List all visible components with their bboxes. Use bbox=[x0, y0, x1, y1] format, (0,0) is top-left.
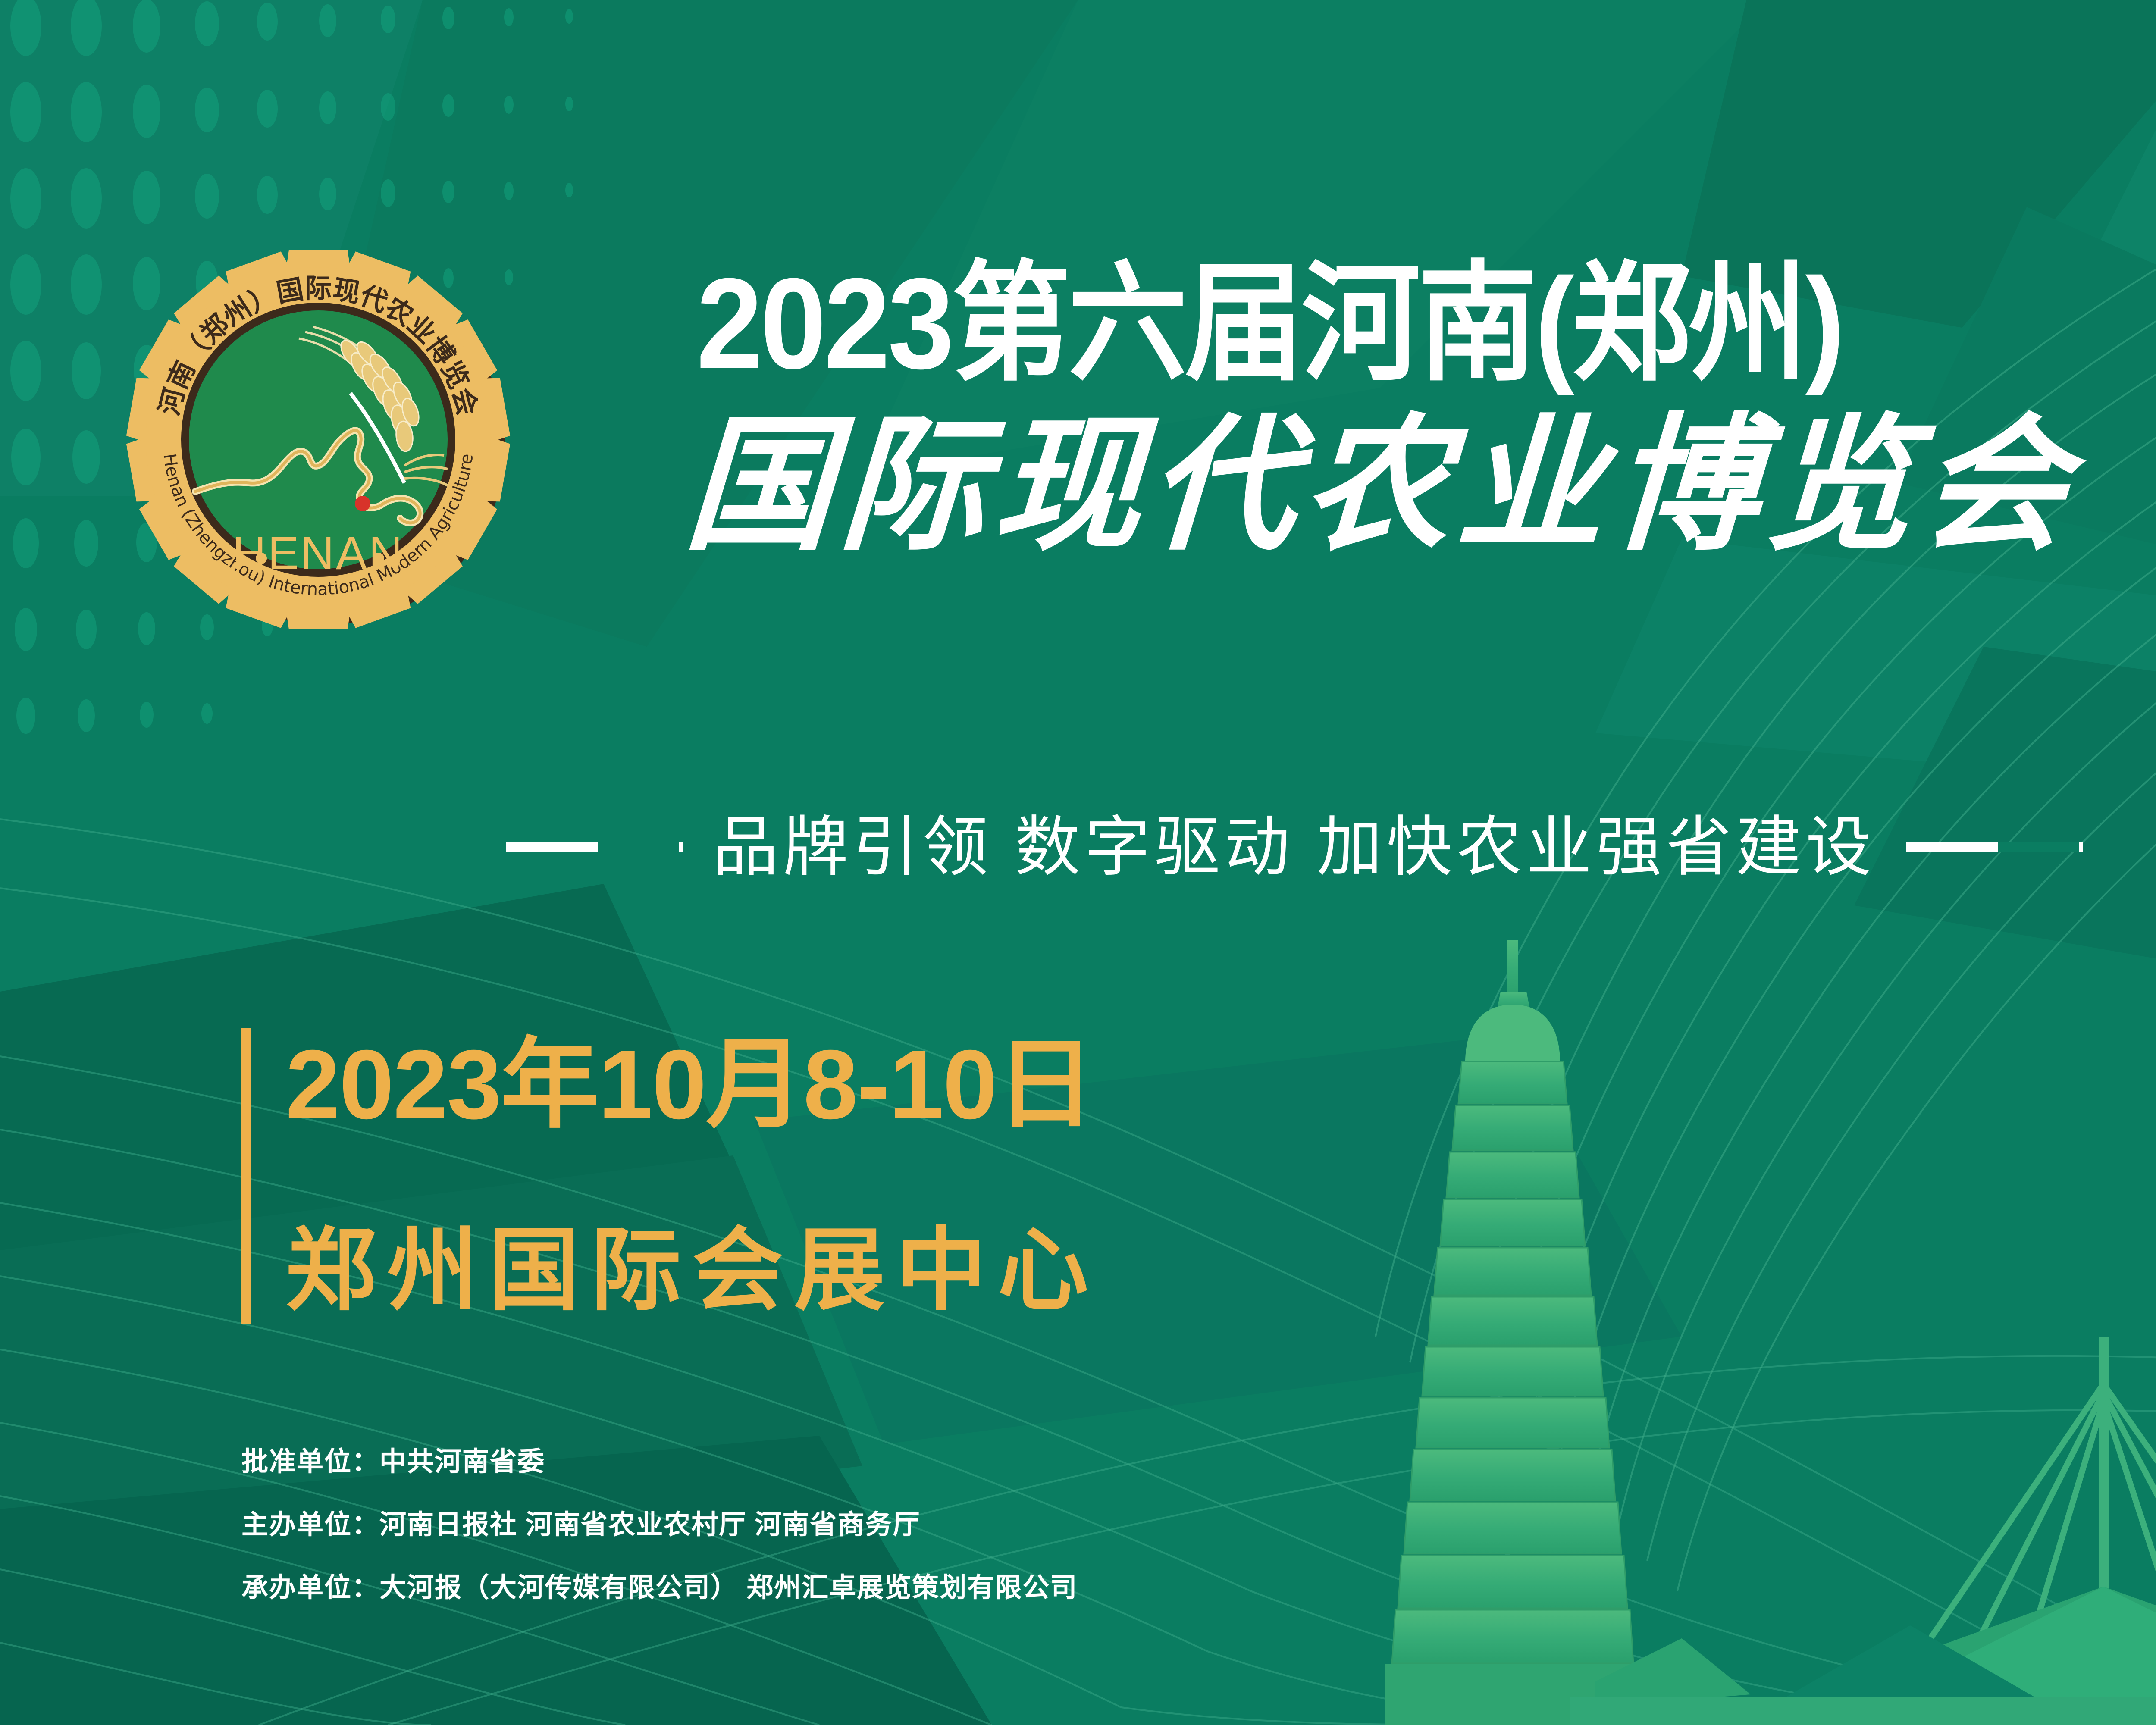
organizer-host: 主办单位：河南日报社 河南省农业农村厅 河南省商务厅 bbox=[241, 1509, 1078, 1540]
logo-center-dot-right bbox=[373, 553, 384, 564]
slogan-row: 品牌引领 数字驱动 加快农业强省建设 bbox=[0, 811, 2156, 884]
organizer-operator: 承办单位：大河报（大河传媒有限公司） 郑州汇卓展览策划有限公司 bbox=[241, 1572, 1078, 1603]
organizer-approver: 批准单位：中共河南省委 bbox=[241, 1446, 1078, 1478]
expo-poster: 河南（郑州）国际现代农业博览会 Henan (Zhengzhou) Intern… bbox=[0, 0, 2156, 1725]
date-venue-block: 2023年10月8-10日 郑州国际会展中心 bbox=[241, 1028, 1100, 1324]
expo-logo: 河南（郑州）国际现代农业博览会 Henan (Zhengzhou) Intern… bbox=[103, 224, 534, 655]
organizers-block: 批准单位：中共河南省委 主办单位：河南日报社 河南省农业农村厅 河南省商务厅 承… bbox=[241, 1446, 1078, 1603]
slogan-dash-left bbox=[506, 842, 683, 852]
title-line-2: 国际现代农业博览会 bbox=[682, 407, 2079, 563]
expo-logo-svg: 河南（郑州）国际现代农业博览会 Henan (Zhengzhou) Intern… bbox=[103, 224, 534, 655]
event-venue: 郑州国际会展中心 bbox=[285, 1221, 1100, 1320]
slogan-text: 品牌引领 数字驱动 加快农业强省建设 bbox=[713, 811, 1875, 884]
title-line-1: 2023第六届河南(郑州) bbox=[696, 252, 1843, 394]
slogan-dash-right bbox=[1906, 842, 2083, 852]
event-date: 2023年10月8-10日 bbox=[285, 1031, 1100, 1139]
logo-center-text-group: HENAN bbox=[232, 527, 404, 579]
gold-accent-bar bbox=[241, 1028, 251, 1324]
capital-marker-dot bbox=[355, 496, 370, 511]
